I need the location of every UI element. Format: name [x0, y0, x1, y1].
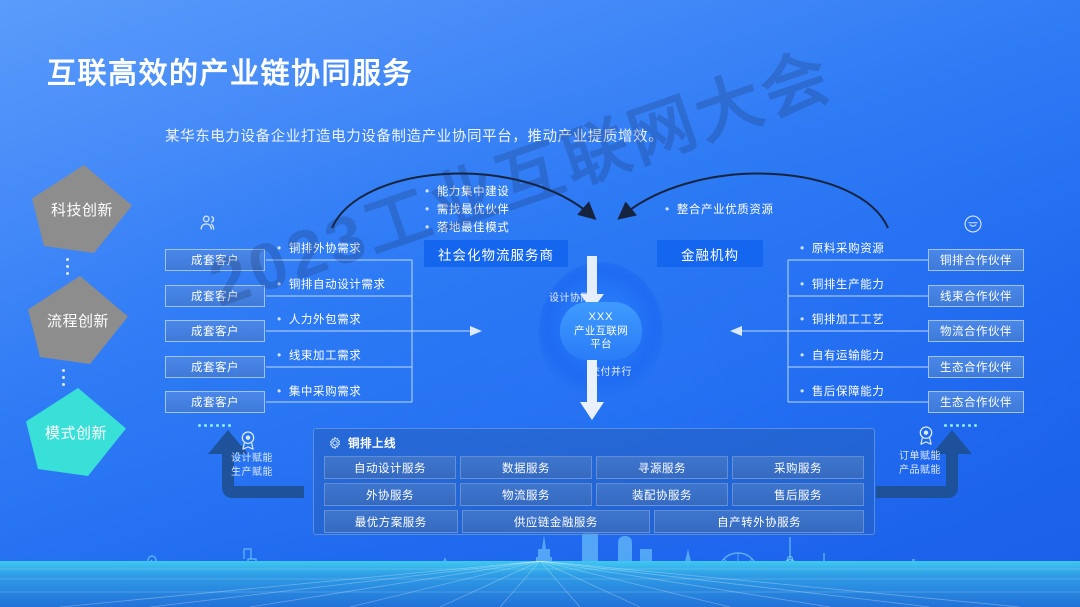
users-icon — [198, 212, 220, 234]
perspective-grid — [0, 561, 1080, 607]
service-cell[interactable]: 物流服务 — [460, 483, 592, 506]
converging-arrows — [320, 150, 900, 245]
customer-box-3[interactable]: 成套客户 — [165, 356, 265, 378]
page-title: 互联高效的产业链协同服务 — [47, 50, 413, 92]
sidebar-item-label: 模式创新 — [45, 422, 107, 443]
left-demand-1: 铜排自动设计需求 — [277, 276, 386, 292]
sidebar-item-label: 流程创新 — [47, 310, 109, 331]
right-enablement-text: 订单赋能 产品赋能 — [899, 450, 941, 477]
right-enablement-line-1: 订单赋能 — [899, 450, 941, 464]
hub-line-3: 平台 — [590, 338, 612, 351]
partner-box-2[interactable]: 物流合作伙伴 — [928, 320, 1024, 342]
services-row: 自动设计服务数据服务寻源服务采购服务 — [324, 456, 864, 479]
center-bullet-1: 需找最优伙伴 — [425, 201, 509, 217]
services-row: 外协服务物流服务装配协服务售后服务 — [324, 483, 864, 506]
services-header: 铜排上线 — [328, 435, 396, 451]
service-cell[interactable]: 采购服务 — [732, 456, 864, 479]
center-bullet-0: 能力集中建设 — [425, 183, 509, 199]
financial-institution-box[interactable]: 金融机构 — [657, 240, 763, 267]
right-capability-3: 自有运输能力 — [800, 347, 884, 363]
services-grid: 自动设计服务数据服务寻源服务采购服务外协服务物流服务装配协服务售后服务最优方案服… — [324, 456, 864, 537]
customer-box-0[interactable]: 成套客户 — [165, 249, 265, 271]
service-cell[interactable]: 供应链金融服务 — [462, 510, 651, 533]
customer-box-2[interactable]: 成套客户 — [165, 320, 265, 342]
right-enablement-dots — [944, 424, 977, 427]
partner-box-3[interactable]: 生态合作伙伴 — [928, 356, 1024, 378]
left-enablement-line-2: 生产赋能 — [231, 466, 273, 480]
medal-icon — [915, 424, 937, 446]
hub-line-2: 产业互联网 — [574, 325, 628, 338]
center-bullet-2: 落地最佳模式 — [425, 219, 509, 235]
services-header-label: 铜排上线 — [348, 435, 396, 451]
badge-icon — [963, 214, 983, 234]
logistics-provider-box[interactable]: 社会化物流服务商 — [424, 240, 568, 267]
sidebar-item-tech-innovation[interactable]: 科技创新 — [32, 165, 132, 253]
service-cell[interactable]: 数据服务 — [460, 456, 592, 479]
hub-top-label: 设计协同 — [549, 289, 591, 304]
right-capability-0: 原料采购资源 — [800, 240, 884, 256]
left-enablement-text: 设计赋能 生产赋能 — [231, 452, 273, 479]
customer-box-1[interactable]: 成套客户 — [165, 285, 265, 307]
right-capability-4: 售后保障能力 — [800, 383, 884, 399]
medal-icon — [237, 429, 259, 451]
left-demand-3: 线束加工需求 — [277, 347, 361, 363]
partner-box-4[interactable]: 生态合作伙伴 — [928, 391, 1024, 413]
right-capability-2: 铜排加工工艺 — [800, 311, 884, 327]
partner-box-0[interactable]: 铜排合作伙伴 — [928, 249, 1024, 271]
sidebar-divider-dots-1 — [62, 258, 72, 275]
hub-bottom-label: 交付并行 — [590, 363, 632, 378]
customer-box-4[interactable]: 成套客户 — [165, 391, 265, 413]
page-subtitle: 某华东电力设备企业打造电力设备制造产业协同平台，推动产业提质增效。 — [165, 125, 663, 146]
service-cell[interactable]: 装配协服务 — [596, 483, 728, 506]
service-cell[interactable]: 自产转外协服务 — [654, 510, 864, 533]
slide-canvas: 互联高效的产业链协同服务 某华东电力设备企业打造电力设备制造产业协同平台，推动产… — [0, 0, 1080, 607]
services-panel: 铜排上线 自动设计服务数据服务寻源服务采购服务外协服务物流服务装配协服务售后服务… — [313, 428, 875, 535]
service-cell[interactable]: 寻源服务 — [596, 456, 728, 479]
service-cell[interactable]: 自动设计服务 — [324, 456, 456, 479]
left-demand-2: 人力外包需求 — [277, 311, 361, 327]
service-cell[interactable]: 售后服务 — [732, 483, 864, 506]
gear-icon — [328, 436, 342, 450]
left-enablement-line-1: 设计赋能 — [231, 452, 273, 466]
services-row: 最优方案服务供应链金融服务自产转外协服务 — [324, 510, 864, 533]
center-bullet-right-0: 整合产业优质资源 — [665, 201, 774, 217]
left-demand-0: 铜排外协需求 — [277, 240, 361, 256]
sidebar-divider-dots-2 — [58, 369, 68, 386]
partner-box-1[interactable]: 线束合作伙伴 — [928, 285, 1024, 307]
right-enablement-line-2: 产品赋能 — [899, 464, 941, 478]
sidebar-item-process-innovation[interactable]: 流程创新 — [28, 276, 128, 364]
sidebar-item-model-innovation[interactable]: 模式创新 — [26, 388, 126, 476]
left-enablement-dots — [198, 424, 231, 427]
left-demand-4: 集中采购需求 — [277, 383, 361, 399]
sidebar-item-label: 科技创新 — [51, 199, 113, 220]
platform-hub[interactable]: XXX 产业互联网 平台 — [560, 302, 642, 360]
service-cell[interactable]: 外协服务 — [324, 483, 456, 506]
service-cell[interactable]: 最优方案服务 — [324, 510, 458, 533]
hub-line-1: XXX — [588, 311, 613, 325]
right-capability-1: 铜排生产能力 — [800, 276, 884, 292]
